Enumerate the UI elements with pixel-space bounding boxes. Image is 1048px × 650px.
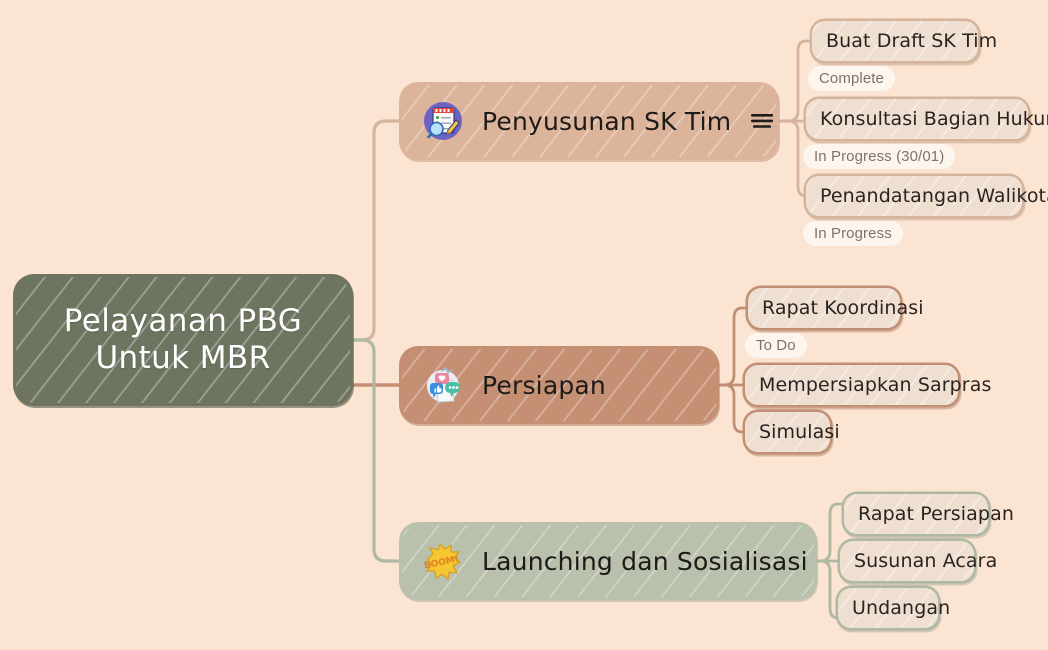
mindmap-canvas: Pelayanan PBG Untuk MBR <box>0 0 1048 650</box>
leaf-node-konsultasi-bagian-hukum[interactable]: Konsultasi Bagian Hukum <box>806 99 1028 139</box>
chat-bubbles-icon <box>422 364 464 406</box>
leaf-node-mempersiapkan-sarpras[interactable]: Mempersiapkan Sarpras <box>745 365 958 405</box>
status-badge-in-progress-3001: In Progress (30/01) <box>803 144 955 169</box>
leaf-node-label: Konsultasi Bagian Hukum <box>820 108 1048 130</box>
leaf-node-undangan[interactable]: Undangan <box>838 588 938 628</box>
spiral-notepad-icon <box>422 100 464 142</box>
leaf-node-label: Penandatangan Walikota <box>820 185 1048 207</box>
status-badge-label: To Do <box>756 337 796 354</box>
status-badge-label: Complete <box>819 70 884 87</box>
leaf-node-penandatangan-walikota[interactable]: Penandatangan Walikota <box>806 176 1022 216</box>
leaf-node-label: Susunan Acara <box>854 550 997 572</box>
wire-branch-2-leaf-3 <box>716 385 748 432</box>
branch-node-label: Persiapan <box>482 371 606 400</box>
status-badge-label: In Progress <box>814 225 892 242</box>
wire-root-to-branch-1 <box>350 121 402 340</box>
leaf-node-rapat-koordinasi[interactable]: Rapat Koordinasi <box>748 288 900 328</box>
leaf-node-label: Simulasi <box>759 421 840 443</box>
leaf-node-susunan-acara[interactable]: Susunan Acara <box>840 541 974 581</box>
branch-node-label: Penyusunan SK Tim <box>482 107 731 136</box>
leaf-node-rapat-persiapan[interactable]: Rapat Persiapan <box>844 494 988 534</box>
root-node[interactable]: Pelayanan PBG Untuk MBR <box>16 277 350 403</box>
leaf-node-label: Mempersiapkan Sarpras <box>759 374 991 396</box>
leaf-node-simulasi[interactable]: Simulasi <box>745 412 830 452</box>
wire-branch-2-leaf-1 <box>716 308 748 385</box>
status-badge-complete: Complete <box>808 66 895 91</box>
boom-explosion-icon: BOOM! <box>422 540 464 582</box>
notes-lines-icon[interactable] <box>749 112 775 130</box>
leaf-node-label: Rapat Persiapan <box>858 503 1014 525</box>
leaf-node-buat-draft-sk-tim[interactable]: Buat Draft SK Tim <box>812 21 978 61</box>
status-badge-to-do: To Do <box>745 333 807 358</box>
wire-root-to-branch-3 <box>350 340 402 561</box>
leaf-node-label: Rapat Koordinasi <box>762 297 924 319</box>
branch-node-label: Launching dan Sosialisasi <box>482 547 808 576</box>
branch-node-penyusunan-sk-tim[interactable]: Penyusunan SK Tim <box>402 85 776 157</box>
status-badge-in-progress: In Progress <box>803 221 903 246</box>
leaf-node-label: Undangan <box>852 597 950 619</box>
leaf-node-label: Buat Draft SK Tim <box>826 30 997 52</box>
root-node-label: Pelayanan PBG Untuk MBR <box>64 303 302 376</box>
branch-node-persiapan[interactable]: Persiapan <box>402 349 716 421</box>
status-badge-label: In Progress (30/01) <box>814 148 944 165</box>
branch-node-launching-dan-sosialisasi[interactable]: BOOM! Launching dan Sosialisasi <box>402 525 814 597</box>
